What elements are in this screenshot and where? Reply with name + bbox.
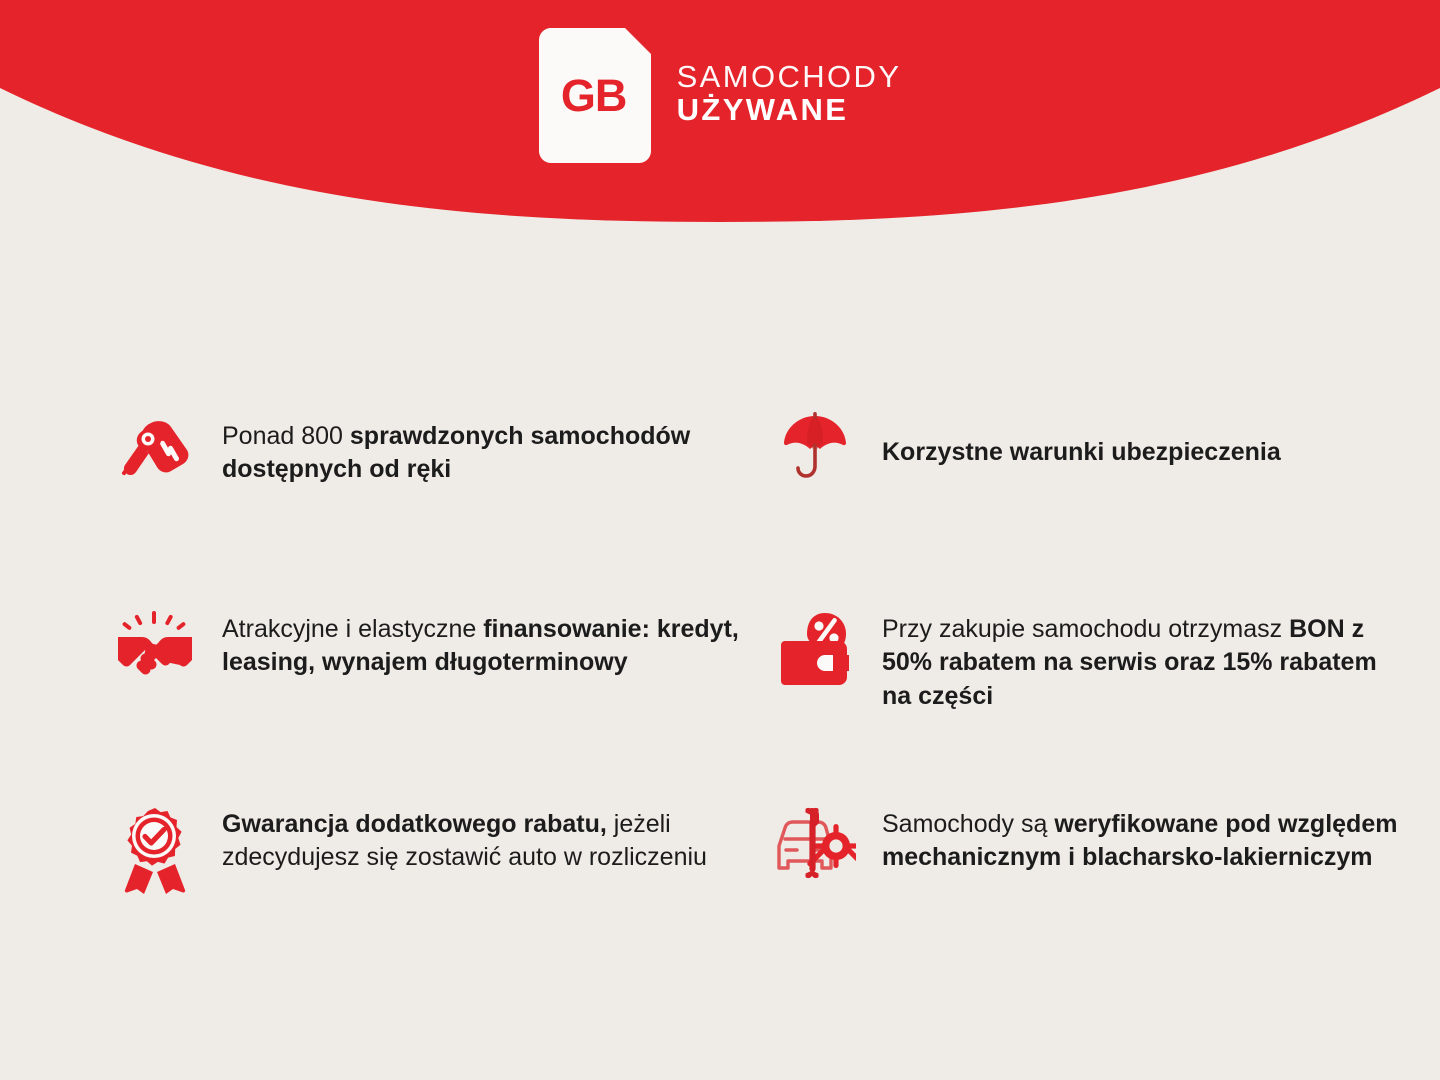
feature-item-guarantee: Gwarancja dodatkowego rabatu, jeżeli zde… (110, 786, 770, 961)
feature-item-financing: Atrakcyjne i elastyczne finansowanie: kr… (110, 591, 770, 766)
feature-text-car-key: Ponad 800 sprawdzonych samochodów dostęp… (222, 398, 742, 487)
gb-logo-icon: GB (539, 28, 651, 163)
handshake-icon (110, 591, 200, 681)
wallet-discount-icon (770, 591, 860, 681)
brand-line-samochody: SAMOCHODY (677, 60, 902, 93)
feature-lead-3: Przy zakupie samochodu otrzymasz (882, 615, 1289, 643)
car-repair-icon (770, 786, 860, 876)
feature-text-verification: Samochody są weryfikowane pod względem m… (882, 786, 1402, 875)
feature-text-insurance: Korzystne warunki ubezpieczenia (882, 398, 1281, 469)
award-badge-icon (110, 786, 200, 876)
feature-grid: Ponad 800 sprawdzonych samochodów dostęp… (0, 398, 1440, 961)
feature-item-insurance: Korzystne warunki ubezpieczenia (770, 398, 1440, 573)
car-key-icon (110, 398, 200, 488)
feature-bold-1: Korzystne warunki ubezpieczenia (882, 438, 1281, 466)
feature-text-discount-voucher: Przy zakupie samochodu otrzymasz BON z 5… (882, 591, 1402, 713)
feature-text-financing: Atrakcyjne i elastyczne finansowanie: kr… (222, 591, 742, 680)
feature-item-car-key: Ponad 800 sprawdzonych samochodów dostęp… (110, 398, 770, 573)
feature-lead-5: Samochody są (882, 810, 1054, 838)
promo-infographic: GB SAMOCHODY UŻYWANE (0, 0, 1440, 1080)
feature-lead-2: Atrakcyjne i elastyczne (222, 615, 483, 643)
feature-bold-4: Gwarancja dodatkowego rabatu, (222, 810, 607, 838)
feature-item-discount-voucher: Przy zakupie samochodu otrzymasz BON z 5… (770, 591, 1440, 766)
gb-logo-text: GB (539, 28, 651, 163)
umbrella-icon (770, 398, 860, 488)
feature-item-verification: Samochody są weryfikowane pod względem m… (770, 786, 1440, 961)
brand-lockup: GB SAMOCHODY UŻYWANE (0, 0, 1440, 190)
feature-lead-0: Ponad 800 (222, 422, 350, 450)
feature-text-guarantee: Gwarancja dodatkowego rabatu, jeżeli zde… (222, 786, 742, 875)
brand-wordmark: SAMOCHODY UŻYWANE (677, 60, 902, 131)
brand-line-uzywane: UŻYWANE (677, 93, 902, 126)
